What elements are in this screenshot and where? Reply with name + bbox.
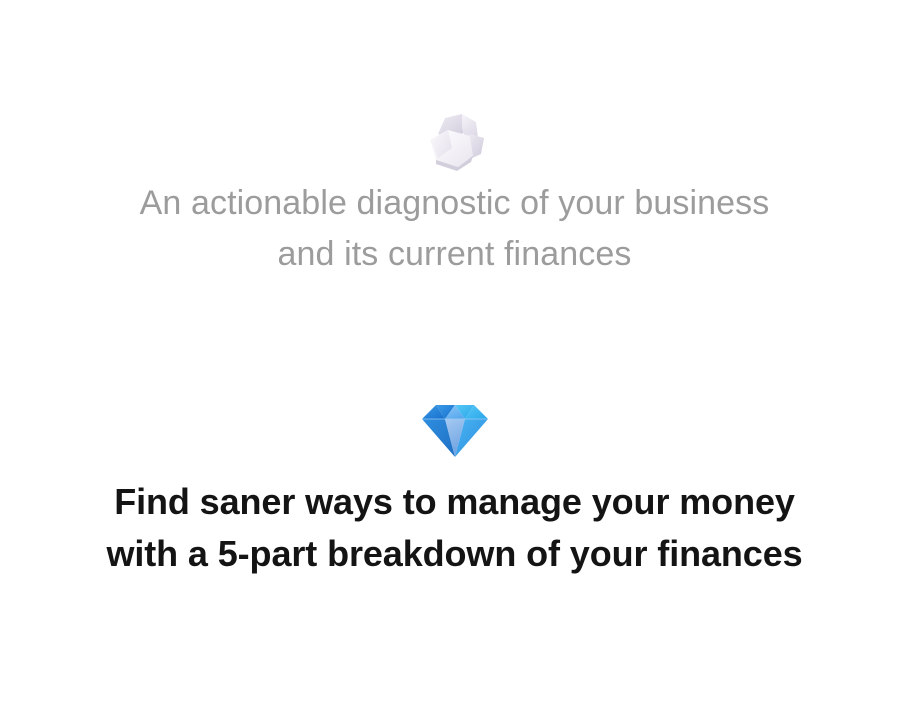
value-prop-heading-line-2: with a 5-part breakdown of your finances	[35, 528, 875, 580]
diagnostic-heading: An actionable diagnostic of your busines…	[55, 178, 855, 280]
blue-diamond-icon	[420, 396, 490, 462]
diagnostic-heading-line-1: An actionable diagnostic of your busines…	[55, 178, 855, 229]
value-prop-heading-line-1: Find saner ways to manage your money	[35, 476, 875, 528]
diagnostic-section: An actionable diagnostic of your busines…	[0, 104, 909, 280]
value-prop-heading: Find saner ways to manage your money wit…	[35, 476, 875, 580]
promo-page: An actionable diagnostic of your busines…	[0, 0, 909, 702]
faded-gem-icon	[418, 104, 492, 178]
value-prop-section: Find saner ways to manage your money wit…	[0, 396, 909, 580]
diagnostic-heading-line-2: and its current finances	[55, 229, 855, 280]
